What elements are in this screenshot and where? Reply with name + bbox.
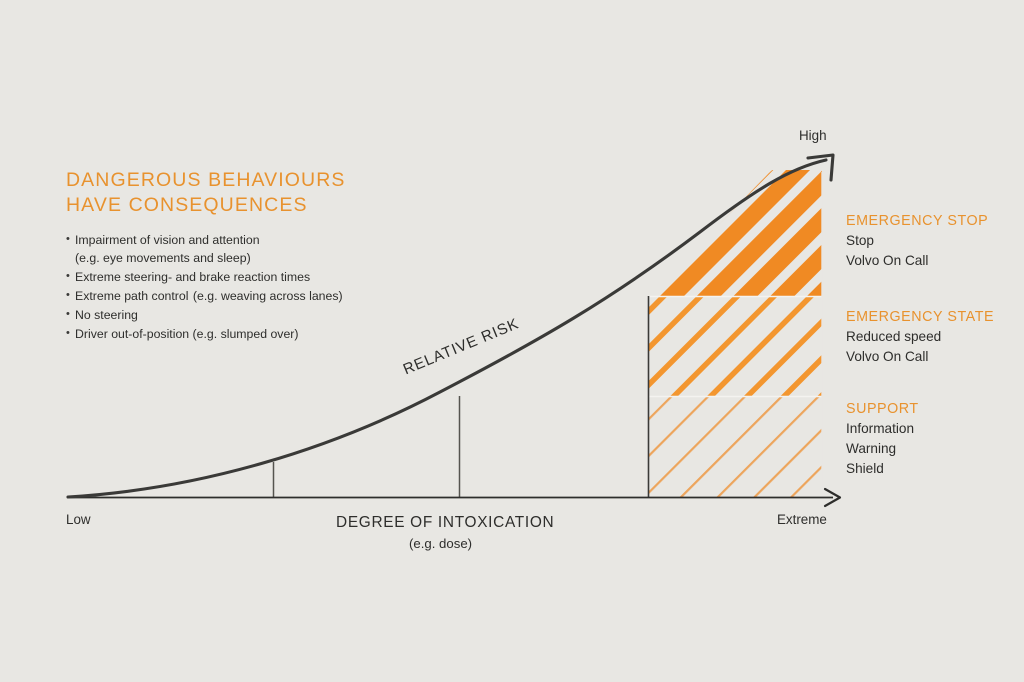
infographic-canvas: DANGEROUS BEHAVIOURS HAVE CONSEQUENCES •… — [0, 0, 1024, 682]
list-item: • Impairment of vision and attention (e.… — [66, 231, 396, 267]
legend-item: Volvo On Call — [846, 251, 1024, 271]
bullet-dot-icon: • — [66, 287, 75, 304]
bullet-dot-icon: • — [66, 231, 75, 248]
legend-item: Volvo On Call — [846, 347, 1024, 367]
legend-item: Warning — [846, 439, 1024, 459]
list-item-main: No steering — [75, 308, 138, 322]
list-item-sub: (e.g. eye movements and sleep) — [75, 251, 251, 265]
dangerous-behaviours-list: • Impairment of vision and attention (e.… — [66, 231, 396, 344]
bullet-dot-icon: • — [66, 325, 75, 342]
x-axis-min-label: Low — [66, 512, 91, 527]
headline-line-1: DANGEROUS BEHAVIOURS — [66, 168, 376, 193]
list-item-main: Extreme steering- and brake reaction tim… — [75, 270, 310, 284]
legend-title: SUPPORT — [846, 399, 1024, 419]
list-item-main: Driver out-of-position (e.g. slumped ove… — [75, 327, 298, 341]
x-axis-title: DEGREE OF INTOXICATION — [336, 514, 554, 532]
list-item-sub: (e.g. weaving across lanes) — [193, 289, 343, 303]
x-axis-max-label: Extreme — [777, 512, 827, 527]
list-item: • Extreme steering- and brake reaction t… — [66, 268, 396, 286]
headline-line-2: HAVE CONSEQUENCES — [66, 193, 376, 218]
zone-support-hatch — [648, 396, 822, 497]
legend-item: Shield — [846, 459, 1024, 479]
list-item-main: Extreme path control — [75, 289, 188, 303]
legend-item: Reduced speed — [846, 327, 1024, 347]
legend-support: SUPPORT Information Warning Shield — [846, 399, 1024, 480]
legend-item: Information — [846, 419, 1024, 439]
legend-emergency-state: EMERGENCY STATE Reduced speed Volvo On C… — [846, 307, 1024, 367]
bullet-dot-icon: • — [66, 306, 75, 323]
legend-emergency-stop: EMERGENCY STOP Stop Volvo On Call — [846, 211, 1024, 271]
y-axis-max-label: High — [799, 128, 827, 143]
zone-emergency-state-hatch — [648, 296, 822, 397]
legend-title: EMERGENCY STOP — [846, 211, 1024, 231]
list-item: • Driver out-of-position (e.g. slumped o… — [66, 325, 396, 343]
bullet-dot-icon: • — [66, 268, 75, 285]
x-axis-subtitle: (e.g. dose) — [409, 536, 472, 551]
legend-title: EMERGENCY STATE — [846, 307, 1024, 327]
list-item: • Extreme path control (e.g. weaving acr… — [66, 287, 396, 305]
headline: DANGEROUS BEHAVIOURS HAVE CONSEQUENCES — [66, 168, 376, 217]
list-item-main: Impairment of vision and attention — [75, 233, 260, 247]
list-item: • No steering — [66, 306, 396, 324]
legend-item: Stop — [846, 231, 1024, 251]
